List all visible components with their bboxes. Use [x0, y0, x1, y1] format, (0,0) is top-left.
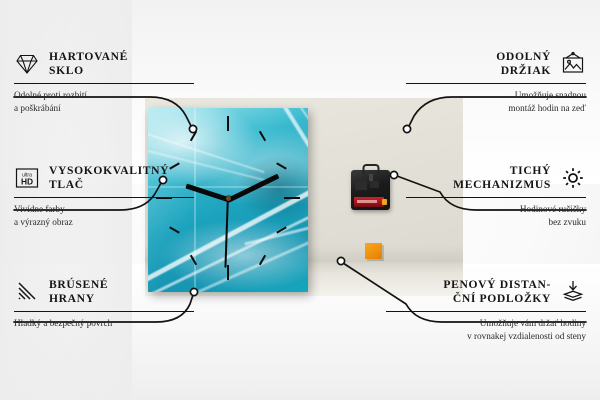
foam-spacer-pad — [365, 243, 382, 259]
divider — [386, 311, 586, 312]
feature-description: Odolné proti rozbití a poškrábání — [14, 89, 194, 114]
feature-title: VYSOKOKVALITNÝ TLAČ — [49, 164, 169, 192]
diamond-icon — [14, 51, 40, 77]
clock-tick-12 — [227, 116, 229, 131]
divider — [14, 311, 194, 312]
feature-silent-mechanism[interactable]: TICHÝ MECHANIZMUS Hodinové ručičky bez z… — [406, 164, 586, 229]
gear-icon — [560, 165, 586, 191]
battery — [354, 197, 384, 207]
clock-mechanism — [351, 170, 390, 210]
feature-ground-edges[interactable]: BRÚSENÉ HRANY Hladký a bezpečný povrch — [14, 278, 194, 330]
feature-foam-spacers[interactable]: PENOVÝ DISTAN- ČNÍ PODLOŽKY Umožňuje vám… — [386, 278, 586, 343]
feature-durable-holder[interactable]: ODOLNÝ DRŽIAK Umožňuje snadnou montáž ho… — [406, 50, 586, 115]
feature-description: Umožňuje vám držať hodiny v rovnakej vzd… — [386, 317, 586, 342]
clock-tick-3 — [284, 197, 300, 199]
feature-title: TICHÝ MECHANIZMUS — [453, 164, 551, 192]
feature-title: ODOLNÝ DRŽIAK — [496, 50, 551, 78]
feature-title: BRÚSENÉ HRANY — [49, 278, 108, 306]
ultra-hd-icon: ultra HD — [14, 165, 40, 191]
feature-description: Umožňuje snadnou montáž hodin na zeď — [406, 89, 586, 114]
divider — [14, 83, 194, 84]
divider — [14, 197, 194, 198]
divider — [406, 83, 586, 84]
mechanism-hanger — [362, 164, 379, 174]
clock-tick-6 — [227, 265, 229, 280]
ground-edges-icon — [14, 279, 40, 305]
divider — [406, 197, 586, 198]
svg-text:HD: HD — [21, 177, 33, 187]
stacked-pads-arrow-icon — [560, 279, 586, 305]
feature-title: HARTOVANÉ SKLO — [49, 50, 128, 78]
picture-frame-icon — [560, 51, 586, 77]
feature-hardened-glass[interactable]: HARTOVANÉ SKLO Odolné proti rozbití a po… — [14, 50, 194, 115]
clock-center-hub — [226, 196, 231, 201]
mechanism-shaft — [369, 174, 373, 181]
feature-description: Hladký a bezpečný povrch — [14, 317, 194, 330]
product-infographic: HARTOVANÉ SKLO Odolné proti rozbití a po… — [0, 0, 600, 400]
feature-hd-print[interactable]: ultra HD VYSOKOKVALITNÝ TLAČ Vivídne far… — [14, 164, 194, 229]
mechanism-slot-right — [370, 181, 379, 188]
feature-description: Hodinové ručičky bez zvuku — [406, 203, 586, 228]
feature-title: PENOVÝ DISTAN- ČNÍ PODLOŽKY — [443, 278, 551, 306]
feature-description: Vivídne farby a výrazný obraz — [14, 203, 194, 228]
mechanism-slot-left — [355, 181, 367, 190]
